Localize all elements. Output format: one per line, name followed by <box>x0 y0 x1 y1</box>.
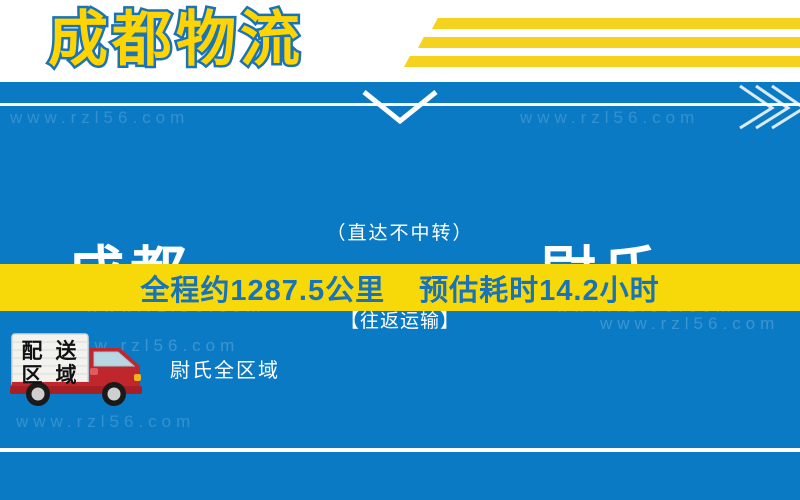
duration-text: 预估耗时14.2小时 <box>419 267 659 309</box>
stats-band: 全程约1287.5公里 预估耗时14.2小时 <box>0 264 800 311</box>
watermark: www.rzl56.com <box>520 108 699 128</box>
truck-label-1: 配 <box>22 339 43 363</box>
watermark: www.rzl56.com <box>600 314 779 334</box>
chevron-down-icon <box>362 90 438 124</box>
coverage-text: 尉氏全区域 <box>170 354 280 383</box>
truck-label-3: 区 <box>22 363 43 387</box>
banner-body: www.rzl56.com www.rzl56.com www.rzl56.co… <box>0 82 800 500</box>
banner-header: 成都物流 <box>0 0 800 82</box>
brand-title: 成都物流 <box>48 4 304 76</box>
truck-label-2: 送 <box>56 339 78 363</box>
watermark: www.rzl56.com <box>10 108 189 128</box>
truck-label-4: 域 <box>56 363 77 387</box>
footer-bar: 公司地址：四川省成都市新都区三河场元贞国际 <box>0 452 800 500</box>
logistics-banner: 成都物流 www.rzl56.com www.rzl56.com www.rzl… <box>0 0 800 500</box>
distance-text: 全程约1287.5公里 <box>140 267 385 309</box>
header-stripe-1 <box>432 18 800 29</box>
route-caption-top: （直达不中转） <box>280 218 520 245</box>
delivery-truck-icon: 配 送 区 域 <box>8 330 156 408</box>
watermark: www.rzl56.com <box>16 412 195 432</box>
header-stripe-2 <box>418 37 800 48</box>
edge-chevron-decoration-icon <box>736 84 800 130</box>
header-stripe-3 <box>404 56 800 67</box>
